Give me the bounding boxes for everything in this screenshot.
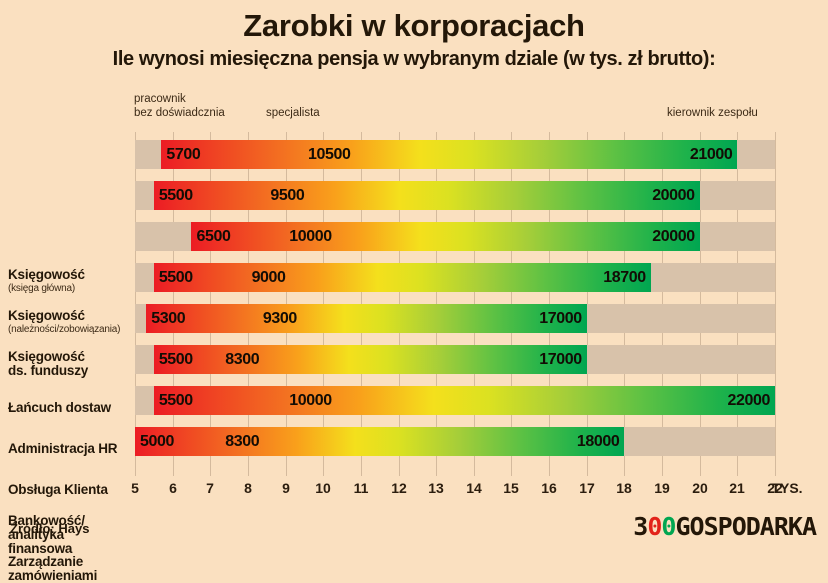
table-row: 57001050021000 <box>135 140 775 169</box>
bar-value-mid: 9500 <box>270 187 304 205</box>
bar-value-mid: 8300 <box>225 351 259 369</box>
table-row: 5000830018000 <box>135 427 775 456</box>
logo-part-zero-red: 0 <box>647 512 661 541</box>
logo-part-zero-green: 0 <box>661 512 675 541</box>
table-row: 5500830017000 <box>135 345 775 374</box>
category-label-sub: (należności/zobowiązania) <box>8 323 122 337</box>
page-subtitle: Ile wynosi miesięczna pensja w wybranym … <box>0 48 828 71</box>
salary-range-bar[interactable]: 57001050021000 <box>161 140 737 169</box>
x-axis-tick-label: 13 <box>428 480 444 496</box>
x-axis-tick-label: 8 <box>244 480 252 496</box>
bar-value-mid: 8300 <box>225 433 259 451</box>
bar-rows: 5700105002100055009500200006500100002000… <box>135 140 775 456</box>
bar-value-min: 5500 <box>159 187 193 205</box>
bar-value-min: 5500 <box>159 392 193 410</box>
bar-value-max: 18700 <box>603 269 646 287</box>
bar-value-mid: 9000 <box>252 269 286 287</box>
logo-part-3: 3 <box>633 512 647 541</box>
x-axis-tick-label: 14 <box>466 480 482 496</box>
bar-value-max: 20000 <box>652 187 695 205</box>
salary-range-bar[interactable]: 5500950020000 <box>154 181 700 210</box>
category-label-main: Księgowość <box>8 350 122 364</box>
salary-range-bar[interactable]: 5500900018700 <box>154 263 651 292</box>
x-axis-tick-label: 10 <box>315 480 331 496</box>
x-axis-tick-label: 20 <box>692 480 708 496</box>
category-label: Księgowośćds. funduszy <box>8 350 122 378</box>
category-label-main: Administracja HR <box>8 442 122 456</box>
category-label-main: Księgowość <box>8 268 122 282</box>
bar-value-max: 21000 <box>690 146 733 164</box>
table-row: 5300930017000 <box>135 304 775 333</box>
bar-value-max: 20000 <box>652 228 695 246</box>
bar-value-min: 5700 <box>166 146 200 164</box>
source-note: Źródło: Hays <box>10 521 89 536</box>
category-axis-labels: Księgowość(księga główna)Księgowość(nale… <box>0 132 130 476</box>
bar-value-min: 5000 <box>140 433 174 451</box>
bar-value-max: 22000 <box>727 392 770 410</box>
category-label: Łańcuch dostaw <box>8 401 122 415</box>
chart-plot-area: 5700105002100055009500200006500100002000… <box>135 132 775 476</box>
salary-range-bar[interactable]: 5500830017000 <box>154 345 587 374</box>
table-row: 65001000020000 <box>135 222 775 251</box>
category-label-main: Zarządzanie <box>8 555 122 569</box>
x-axis-tick-label: 16 <box>541 480 557 496</box>
bar-value-mid: 10000 <box>289 392 332 410</box>
x-axis-tick-label: 7 <box>206 480 214 496</box>
x-axis-tick-label: 21 <box>729 480 745 496</box>
bar-value-min: 5500 <box>159 351 193 369</box>
bar-value-max: 18000 <box>577 433 620 451</box>
salary-range-bar[interactable]: 5000830018000 <box>135 427 624 456</box>
salary-range-bar[interactable]: 65001000020000 <box>191 222 699 251</box>
bar-value-min: 6500 <box>196 228 230 246</box>
bar-value-mid: 9300 <box>263 310 297 328</box>
bar-value-min: 5300 <box>151 310 185 328</box>
bar-value-max: 17000 <box>539 310 582 328</box>
table-row: 5500900018700 <box>135 263 775 292</box>
x-axis-tick-label: 12 <box>391 480 407 496</box>
table-row: 5500950020000 <box>135 181 775 210</box>
x-axis-tick-label: 18 <box>616 480 632 496</box>
x-axis-tick-label: 22 <box>767 480 783 496</box>
legend-label-junior: pracownik bez doświadcznia <box>134 92 225 120</box>
x-axis-tick-label: 17 <box>579 480 595 496</box>
bar-value-mid: 10000 <box>289 228 332 246</box>
x-axis: TYS. 5678910111213141516171819202122 <box>0 480 828 506</box>
category-label-main: Księgowość <box>8 309 122 323</box>
bar-value-max: 17000 <box>539 351 582 369</box>
category-label: Księgowość(księga główna) <box>8 268 122 296</box>
category-label: Administracja HR <box>8 442 122 456</box>
legend-label-manager: kierownik zespołu <box>667 106 758 120</box>
grid-line <box>775 132 776 476</box>
brand-logo: 300GOSPODARKA <box>633 514 816 539</box>
logo-part-word: GOSPODARKA <box>675 512 816 541</box>
salary-range-bar[interactable]: 5300930017000 <box>146 304 586 333</box>
category-label: Księgowość(należności/zobowiązania) <box>8 309 122 337</box>
category-label-main: Łańcuch dostaw <box>8 401 122 415</box>
legend-label-specialist: specjalista <box>266 106 320 120</box>
bar-value-min: 5500 <box>159 269 193 287</box>
x-axis-tick-label: 11 <box>354 480 369 496</box>
category-label: Zarządzaniezamówieniami <box>8 555 122 583</box>
x-axis-tick-label: 15 <box>503 480 519 496</box>
salary-range-bar[interactable]: 55001000022000 <box>154 386 775 415</box>
category-label-sub: zamówieniami <box>8 569 122 583</box>
category-label-sub: ds. funduszy <box>8 364 122 378</box>
x-axis-tick-label: 19 <box>654 480 670 496</box>
x-axis-tick-label: 5 <box>131 480 139 496</box>
page-title: Zarobki w korporacjach <box>0 8 828 44</box>
category-label-sub: (księga główna) <box>8 282 122 296</box>
x-axis-tick-label: 6 <box>169 480 177 496</box>
table-row: 55001000022000 <box>135 386 775 415</box>
x-axis-tick-label: 9 <box>282 480 290 496</box>
bar-value-mid: 10500 <box>308 146 351 164</box>
